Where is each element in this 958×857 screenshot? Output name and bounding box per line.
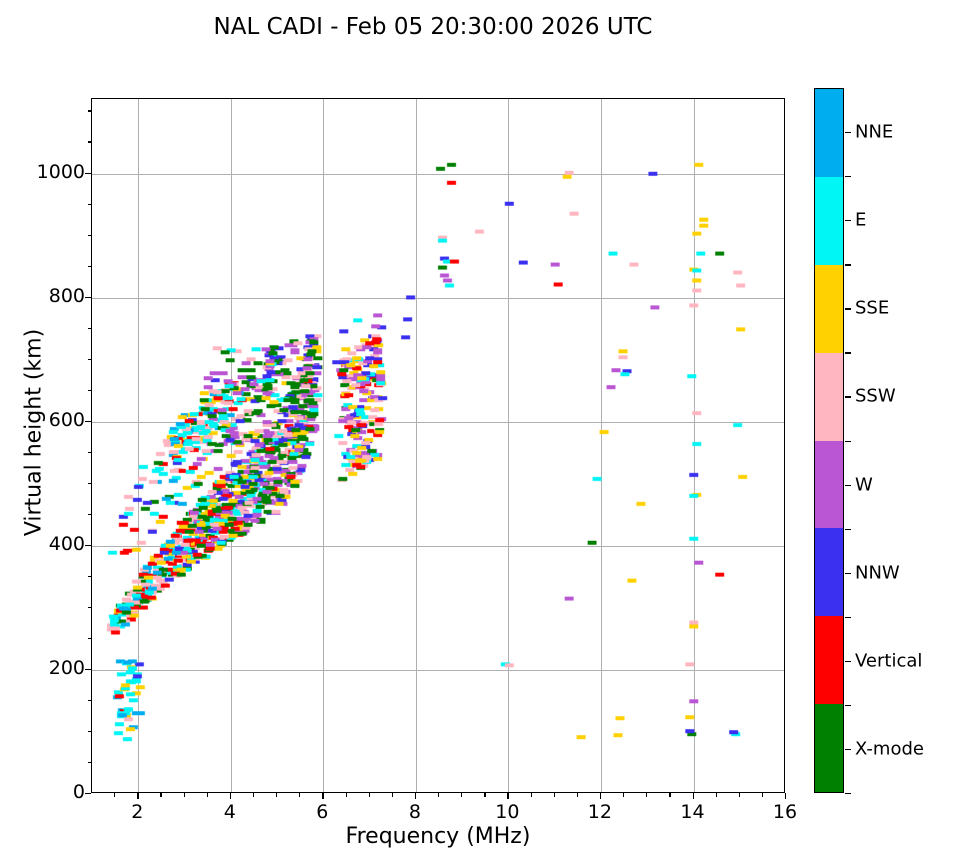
colorbar-boundary-tick	[845, 441, 851, 442]
x-tick-minor	[669, 793, 670, 797]
colorbar-label-nnw: NNW	[855, 562, 900, 583]
y-tick-major	[85, 545, 91, 546]
y-tick-minor	[88, 204, 92, 205]
colorbar-label-e: E	[855, 210, 866, 231]
plot-area[interactable]	[91, 98, 785, 793]
y-tick-minor	[88, 576, 92, 577]
y-tick-minor	[88, 266, 92, 267]
x-tick-minor	[577, 793, 578, 797]
y-tick-minor	[88, 483, 92, 484]
colorbar-segment-w[interactable]	[815, 441, 843, 529]
x-tick-minor	[346, 793, 347, 797]
colorbar-segment-e[interactable]	[815, 177, 843, 265]
y-tick-minor	[88, 607, 92, 608]
y-tick-minor	[88, 452, 92, 453]
colorbar-label-ssw: SSW	[855, 386, 896, 407]
ionogram-figure: NAL CADI - Feb 05 20:30:00 2026 UTC 2468…	[0, 0, 958, 857]
x-tick-label: 2	[107, 801, 167, 823]
x-tick-label: 16	[755, 801, 815, 823]
colorbar-segment-vertical[interactable]	[815, 616, 843, 704]
x-tick-minor	[392, 793, 393, 797]
colorbar-center-tick	[845, 485, 851, 486]
x-tick-major	[415, 793, 416, 799]
colorbar-center-tick	[845, 308, 851, 309]
x-tick-minor	[114, 793, 115, 797]
colorbar-segment-sse[interactable]	[815, 265, 843, 353]
x-tick-minor	[739, 793, 740, 797]
x-tick-major	[507, 793, 508, 799]
y-tick-major	[85, 421, 91, 422]
y-tick-minor	[88, 762, 92, 763]
y-tick-minor	[88, 359, 92, 360]
colorbar-center-tick	[845, 396, 851, 397]
y-tick-major	[85, 669, 91, 670]
y-tick-minor	[88, 638, 92, 639]
colorbar-boundary-tick	[845, 176, 851, 177]
y-tick-label: 0	[0, 781, 85, 803]
colorbar-label-x-mode: X-mode	[855, 738, 924, 759]
x-tick-minor	[160, 793, 161, 797]
colorbar-center-tick	[845, 749, 851, 750]
x-tick-minor	[646, 793, 647, 797]
x-tick-label: 6	[292, 801, 352, 823]
x-tick-minor	[531, 793, 532, 797]
y-axis-label: Virtual height (km)	[22, 253, 47, 613]
y-tick-label: 1000	[0, 161, 85, 183]
x-tick-minor	[461, 793, 462, 797]
colorbar-boundary-tick	[845, 705, 851, 706]
colorbar-segment-nne[interactable]	[815, 89, 843, 177]
y-tick-minor	[88, 110, 92, 111]
x-tick-major	[600, 793, 601, 799]
x-tick-major	[137, 793, 138, 799]
x-tick-label: 4	[200, 801, 260, 823]
x-tick-label: 8	[385, 801, 445, 823]
colorbar-center-tick	[845, 220, 851, 221]
colorbar-boundary-tick	[845, 264, 851, 265]
x-tick-minor	[184, 793, 185, 797]
page-title: NAL CADI - Feb 05 20:30:00 2026 UTC	[0, 14, 866, 40]
x-tick-major	[322, 793, 323, 799]
colorbar-segment-x-mode[interactable]	[815, 704, 843, 792]
colorbar-label-w: W	[855, 474, 873, 495]
x-tick-minor	[623, 793, 624, 797]
x-tick-minor	[762, 793, 763, 797]
x-tick-major	[693, 793, 694, 799]
x-tick-label: 10	[477, 801, 537, 823]
y-tick-minor	[88, 700, 92, 701]
x-tick-minor	[299, 793, 300, 797]
y-tick-major	[85, 793, 91, 794]
x-axis-label: Frequency (MHz)	[91, 824, 785, 849]
colorbar-center-tick	[845, 661, 851, 662]
x-tick-major	[230, 793, 231, 799]
scatter-data-layer	[92, 99, 784, 792]
colorbar-boundary-tick	[845, 352, 851, 353]
colorbar-segment-nnw[interactable]	[815, 528, 843, 616]
y-tick-major	[85, 297, 91, 298]
y-tick-minor	[88, 141, 92, 142]
x-tick-minor	[276, 793, 277, 797]
y-tick-minor	[88, 235, 92, 236]
x-tick-minor	[369, 793, 370, 797]
colorbar-boundary-tick	[845, 617, 851, 618]
x-tick-minor	[484, 793, 485, 797]
y-tick-minor	[88, 731, 92, 732]
x-tick-minor	[438, 793, 439, 797]
colorbar-boundary-tick	[845, 529, 851, 530]
y-tick-minor	[88, 514, 92, 515]
x-tick-minor	[207, 793, 208, 797]
y-tick-minor	[88, 390, 92, 391]
colorbar-center-tick	[845, 573, 851, 574]
colorbar-label-vertical: Vertical	[855, 650, 922, 671]
colorbar[interactable]	[814, 88, 844, 793]
colorbar-label-nne: NNE	[855, 122, 893, 143]
x-tick-label: 12	[570, 801, 630, 823]
x-tick-major	[785, 793, 786, 799]
y-tick-major	[85, 173, 91, 174]
colorbar-segment-ssw[interactable]	[815, 353, 843, 441]
x-tick-minor	[554, 793, 555, 797]
colorbar-label-sse: SSE	[855, 298, 889, 319]
y-tick-minor	[88, 328, 92, 329]
colorbar-center-tick	[845, 132, 851, 133]
x-tick-minor	[716, 793, 717, 797]
x-tick-minor	[253, 793, 254, 797]
x-tick-label: 14	[663, 801, 723, 823]
colorbar-boundary-tick	[845, 793, 851, 794]
y-tick-label: 200	[0, 657, 85, 679]
